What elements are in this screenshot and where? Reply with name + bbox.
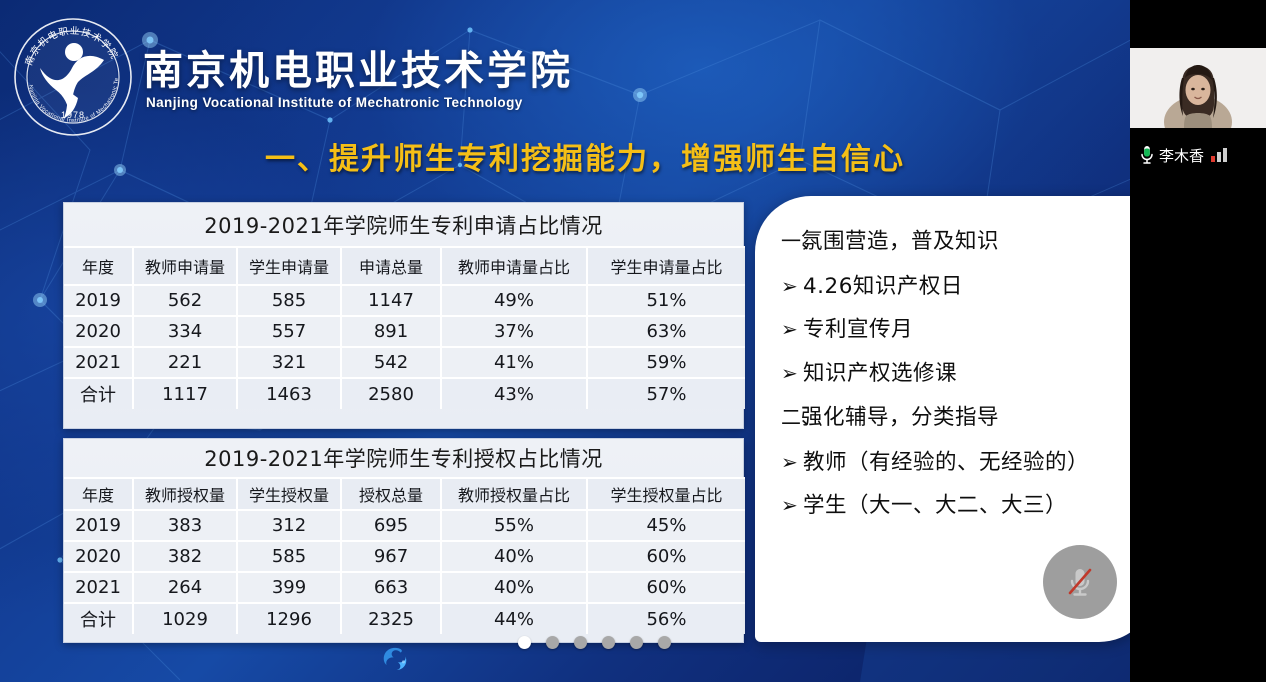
table-row: 2019 562 585 1147 49% 51% bbox=[64, 285, 745, 316]
column-header: 教师申请量 bbox=[133, 247, 237, 285]
patent-application-table-card: 2019-2021年学院师生专利申请占比情况 年度 教师申请量 学生申请量 申请… bbox=[63, 202, 744, 429]
table-cell: 2020 bbox=[64, 316, 133, 347]
bullet-arrow-icon: ➢ bbox=[779, 362, 803, 384]
column-header: 学生授权量占比 bbox=[587, 478, 745, 510]
bullet-label: 氛围营造，普及知识 bbox=[801, 230, 999, 255]
slide-pagination-dots[interactable] bbox=[518, 636, 671, 649]
table-cell: 56% bbox=[587, 603, 745, 634]
sidebar-empty-area bbox=[1130, 180, 1266, 682]
table-cell: 45% bbox=[587, 510, 745, 541]
pagination-dot-4[interactable] bbox=[602, 636, 615, 649]
bullet-label: 教师（有经验的、无经验的） bbox=[803, 451, 1089, 476]
table-cell: 41% bbox=[441, 347, 587, 378]
bullet-arrow-icon: ➢ bbox=[779, 494, 803, 516]
table-total-row: 合计 1117 1463 2580 43% 57% bbox=[64, 378, 745, 409]
pagination-dot-1[interactable] bbox=[518, 636, 531, 649]
participant-webcam-image bbox=[1130, 48, 1266, 128]
slide-title: 一、提升师生专利挖掘能力，增强师生自信心 bbox=[265, 134, 905, 178]
table-cell: 557 bbox=[237, 316, 341, 347]
bullet-marker: 二、 bbox=[779, 406, 803, 428]
participant-video-tile[interactable] bbox=[1130, 48, 1266, 128]
table-cell: 585 bbox=[237, 285, 341, 316]
table-cell: 1147 bbox=[341, 285, 441, 316]
pagination-dot-5[interactable] bbox=[630, 636, 643, 649]
column-header: 年度 bbox=[64, 247, 133, 285]
table-cell: 合计 bbox=[64, 603, 133, 634]
patent-grant-table-card: 2019-2021年学院师生专利授权占比情况 年度 教师授权量 学生授权量 授权… bbox=[63, 438, 744, 643]
table-cell: 37% bbox=[441, 316, 587, 347]
school-emblem-icon: 1978 南京机电职业技术学院 Nanjing Vocational Insti… bbox=[12, 16, 134, 138]
patent-grant-table: 年度 教师授权量 学生授权量 授权总量 教师授权量占比 学生授权量占比 2019… bbox=[64, 477, 745, 634]
table-row: 2019 383 312 695 55% 45% bbox=[64, 510, 745, 541]
table-cell: 49% bbox=[441, 285, 587, 316]
table-cell: 1463 bbox=[237, 378, 341, 409]
column-header: 学生申请量占比 bbox=[587, 247, 745, 285]
table-cell: 51% bbox=[587, 285, 745, 316]
table-cell: 334 bbox=[133, 316, 237, 347]
table-cell: 60% bbox=[587, 541, 745, 572]
table-header-row: 年度 教师申请量 学生申请量 申请总量 教师申请量占比 学生申请量占比 bbox=[64, 247, 745, 285]
table-cell: 891 bbox=[341, 316, 441, 347]
table-cell: 321 bbox=[237, 347, 341, 378]
table-cell: 562 bbox=[133, 285, 237, 316]
table-cell: 60% bbox=[587, 572, 745, 603]
bullet-item: ➢ 教师（有经验的、无经验的） bbox=[779, 451, 1130, 476]
table-cell: 382 bbox=[133, 541, 237, 572]
table-row: 2020 334 557 891 37% 63% bbox=[64, 316, 745, 347]
meeting-sidebar: 李木香 bbox=[1130, 0, 1266, 682]
mute-microphone-button[interactable] bbox=[1043, 545, 1117, 619]
table-total-row: 合计 1029 1296 2325 44% 56% bbox=[64, 603, 745, 634]
table-cell: 57% bbox=[587, 378, 745, 409]
table-title: 2019-2021年学院师生专利授权占比情况 bbox=[64, 439, 743, 477]
table-cell: 585 bbox=[237, 541, 341, 572]
table-cell: 1029 bbox=[133, 603, 237, 634]
bullet-label: 4.26知识产权日 bbox=[803, 275, 963, 300]
bullet-item: 一、 氛围营造，普及知识 bbox=[779, 230, 1130, 255]
speaker-name-label: 李木香 bbox=[1159, 145, 1204, 166]
presentation-slide: 1978 南京机电职业技术学院 Nanjing Vocational Insti… bbox=[0, 0, 1130, 682]
table-row: 2021 264 399 663 40% 60% bbox=[64, 572, 745, 603]
bullet-item: ➢ 学生（大一、大二、大三） bbox=[779, 494, 1130, 519]
school-name-en: Nanjing Vocational Institute of Mechatro… bbox=[146, 95, 523, 110]
bullet-label: 强化辅导，分类指导 bbox=[801, 406, 999, 431]
table-cell: 2580 bbox=[341, 378, 441, 409]
table-cell: 1117 bbox=[133, 378, 237, 409]
table-cell: 663 bbox=[341, 572, 441, 603]
table-cell: 399 bbox=[237, 572, 341, 603]
pagination-dot-2[interactable] bbox=[546, 636, 559, 649]
column-header: 教师授权量占比 bbox=[441, 478, 587, 510]
bullet-label: 学生（大一、大二、大三） bbox=[803, 494, 1067, 519]
table-cell: 2021 bbox=[64, 572, 133, 603]
microphone-muted-icon bbox=[1060, 562, 1100, 602]
table-cell: 2325 bbox=[341, 603, 441, 634]
participant-name-row: 李木香 bbox=[1130, 140, 1266, 170]
bullet-marker: 一、 bbox=[779, 230, 803, 252]
table-row: 2021 221 321 542 41% 59% bbox=[64, 347, 745, 378]
table-row: 2020 382 585 967 40% 60% bbox=[64, 541, 745, 572]
table-cell: 43% bbox=[441, 378, 587, 409]
table-header-row: 年度 教师授权量 学生授权量 授权总量 教师授权量占比 学生授权量占比 bbox=[64, 478, 745, 510]
microphone-on-icon bbox=[1140, 145, 1154, 165]
patent-application-table: 年度 教师申请量 学生申请量 申请总量 教师申请量占比 学生申请量占比 2019… bbox=[64, 246, 745, 409]
screen-root: 1978 南京机电职业技术学院 Nanjing Vocational Insti… bbox=[0, 0, 1266, 682]
bullet-arrow-icon: ➢ bbox=[779, 318, 803, 340]
bullet-item: ➢ 专利宣传月 bbox=[779, 318, 1130, 343]
column-header: 学生申请量 bbox=[237, 247, 341, 285]
table-cell: 63% bbox=[587, 316, 745, 347]
bullet-item: ➢ 4.26知识产权日 bbox=[779, 275, 1130, 300]
table-cell: 695 bbox=[341, 510, 441, 541]
table-cell: 40% bbox=[441, 541, 587, 572]
bullet-label: 专利宣传月 bbox=[803, 318, 913, 343]
column-header: 授权总量 bbox=[341, 478, 441, 510]
table-cell: 383 bbox=[133, 510, 237, 541]
signal-strength-icon bbox=[1211, 148, 1227, 162]
table-cell: 合计 bbox=[64, 378, 133, 409]
table-cell: 2019 bbox=[64, 285, 133, 316]
table-cell: 312 bbox=[237, 510, 341, 541]
column-header: 学生授权量 bbox=[237, 478, 341, 510]
bullet-arrow-icon: ➢ bbox=[779, 451, 803, 473]
table-cell: 264 bbox=[133, 572, 237, 603]
table-cell: 44% bbox=[441, 603, 587, 634]
table-cell: 2021 bbox=[64, 347, 133, 378]
pagination-dot-3[interactable] bbox=[574, 636, 587, 649]
bullet-item: ➢ 知识产权选修课 bbox=[779, 362, 1130, 387]
column-header: 申请总量 bbox=[341, 247, 441, 285]
table-title: 2019-2021年学院师生专利申请占比情况 bbox=[64, 203, 743, 246]
school-emblem-logo: 1978 南京机电职业技术学院 Nanjing Vocational Insti… bbox=[12, 16, 134, 138]
table-cell: 59% bbox=[587, 347, 745, 378]
table-cell: 55% bbox=[441, 510, 587, 541]
bullet-arrow-icon: ➢ bbox=[779, 275, 803, 297]
school-name-cn: 南京机电职业技术学院 bbox=[143, 38, 573, 96]
table-cell: 2019 bbox=[64, 510, 133, 541]
table-cell: 2020 bbox=[64, 541, 133, 572]
bullet-item: 二、 强化辅导，分类指导 bbox=[779, 406, 1130, 431]
column-header: 教师授权量 bbox=[133, 478, 237, 510]
column-header: 教师申请量占比 bbox=[441, 247, 587, 285]
table-cell: 967 bbox=[341, 541, 441, 572]
column-header: 年度 bbox=[64, 478, 133, 510]
pagination-dot-6[interactable] bbox=[658, 636, 671, 649]
table-cell: 1296 bbox=[237, 603, 341, 634]
table-cell: 542 bbox=[341, 347, 441, 378]
edge-logo-icon bbox=[380, 645, 410, 675]
table-cell: 221 bbox=[133, 347, 237, 378]
table-cell: 40% bbox=[441, 572, 587, 603]
bullet-label: 知识产权选修课 bbox=[803, 362, 957, 387]
